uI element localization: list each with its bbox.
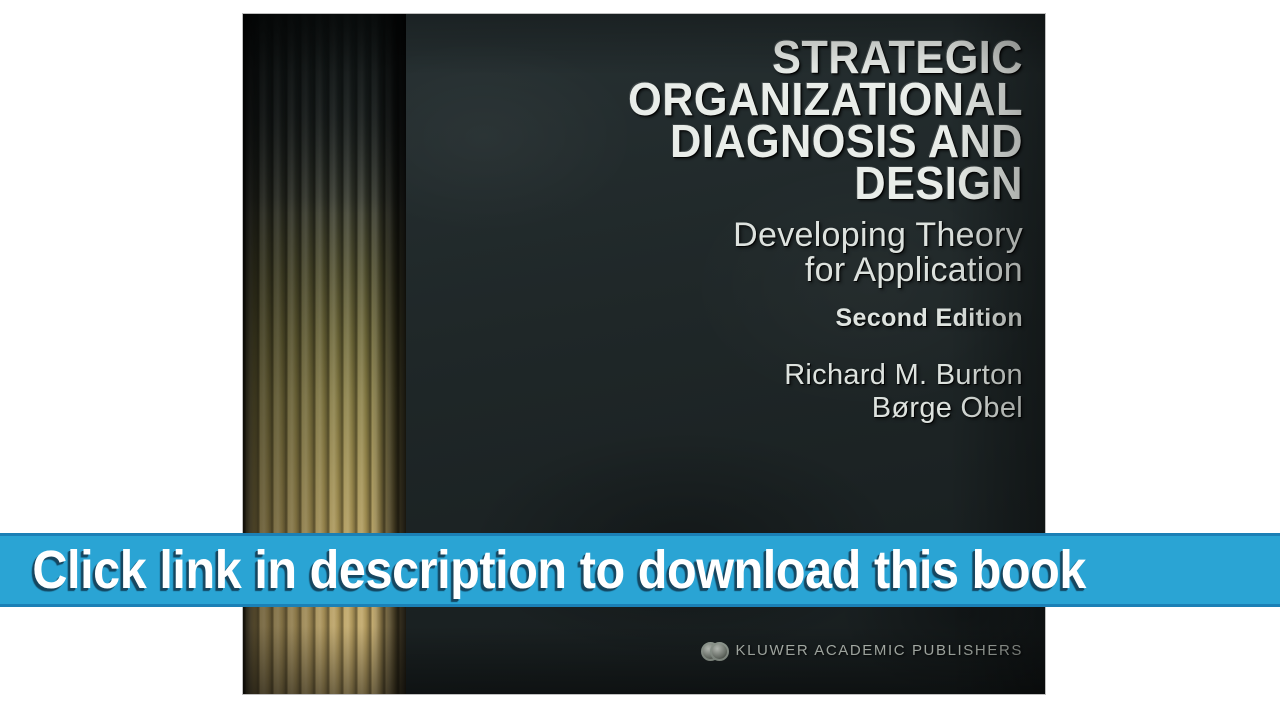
book-edition: Second Edition xyxy=(428,305,1023,331)
promo-banner-text: Click link in description to download th… xyxy=(0,543,1086,597)
author-name-1: Richard M. Burton xyxy=(428,359,1023,392)
kluwer-circles-logo-icon xyxy=(701,640,727,660)
publisher-imprint: KLUWER ACADEMIC PUBLISHERS xyxy=(701,640,1024,660)
subtitle-line-2: for Application xyxy=(428,253,1023,288)
title-line-2: ORGANIZATIONAL xyxy=(464,78,1023,120)
author-name-2: Børge Obel xyxy=(428,392,1023,425)
title-line-3: DIAGNOSIS AND xyxy=(464,120,1023,162)
title-line-1: STRATEGIC xyxy=(464,36,1023,78)
publisher-name: KLUWER ACADEMIC PUBLISHERS xyxy=(736,642,1024,659)
screenshot-stage: STRATEGIC ORGANIZATIONAL DIAGNOSIS AND D… xyxy=(0,0,1280,720)
cover-front-text: STRATEGIC ORGANIZATIONAL DIAGNOSIS AND D… xyxy=(428,14,1023,425)
book-authors: Richard M. Burton Børge Obel xyxy=(428,359,1023,425)
book-subtitle: Developing Theory for Application xyxy=(428,218,1023,288)
book-title: STRATEGIC ORGANIZATIONAL DIAGNOSIS AND D… xyxy=(428,36,1023,204)
promo-banner[interactable]: Click link in description to download th… xyxy=(0,533,1280,607)
subtitle-line-1: Developing Theory xyxy=(428,218,1023,253)
title-line-4: DESIGN xyxy=(464,162,1023,204)
